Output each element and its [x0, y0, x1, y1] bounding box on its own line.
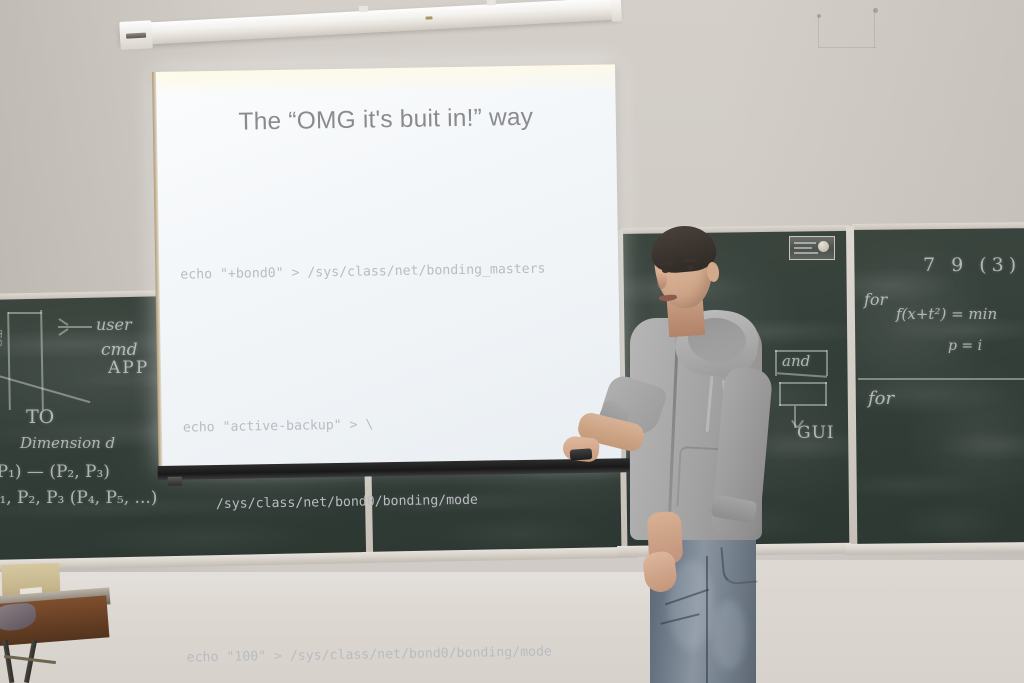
- code-line: echo "+bond0" > /sys/class/net/bonding_m…: [180, 256, 606, 289]
- plaque-bar: [794, 252, 818, 254]
- presenter-eye: [687, 266, 694, 270]
- slide-code-block: echo "+bond0" > /sys/class/net/bonding_m…: [179, 205, 613, 683]
- blackboard-far-right: [852, 226, 1024, 550]
- projector-screen-bottom-foot: [168, 477, 182, 486]
- blackboard-plaque: [789, 236, 835, 260]
- plaque-bar: [794, 247, 812, 249]
- plaque-dot-icon: [818, 241, 829, 252]
- jeans-pocket: [720, 545, 757, 586]
- presenter-remote[interactable]: [570, 448, 593, 461]
- lower-wall-right: [756, 560, 1024, 683]
- roller-ceiling-bracket: [359, 6, 368, 12]
- classroom-photo-scene: TO user cmd APP TO Dimension d (P₁) — (P…: [0, 0, 1024, 683]
- plaque-bar: [794, 242, 816, 244]
- code-line: echo "100" > /sys/class/net/bond0/bondin…: [187, 638, 613, 671]
- jeans-fade-highlight: [712, 600, 746, 670]
- blackboard-rail-far-right: [846, 542, 1024, 555]
- roller-end-cap-right: [611, 0, 622, 22]
- roller-ceiling-bracket: [487, 0, 496, 5]
- wall-hairline: [818, 47, 876, 48]
- wall-hairline: [818, 16, 819, 48]
- code-line-spacer: [185, 562, 611, 595]
- code-line: echo "active-backup" > \: [183, 409, 609, 442]
- roller-screw-icon: [425, 16, 432, 19]
- wall-hairline: [874, 10, 875, 48]
- roller-slot-icon: [126, 33, 146, 39]
- code-line: /sys/class/net/bond0/bonding/mode: [184, 485, 610, 518]
- jeans-center-seam: [706, 556, 708, 683]
- roller-end-box: [119, 20, 152, 50]
- code-line-spacer: [181, 332, 607, 365]
- projector-screen[interactable]: The “OMG it's buit in!” way echo "+bond0…: [155, 64, 621, 467]
